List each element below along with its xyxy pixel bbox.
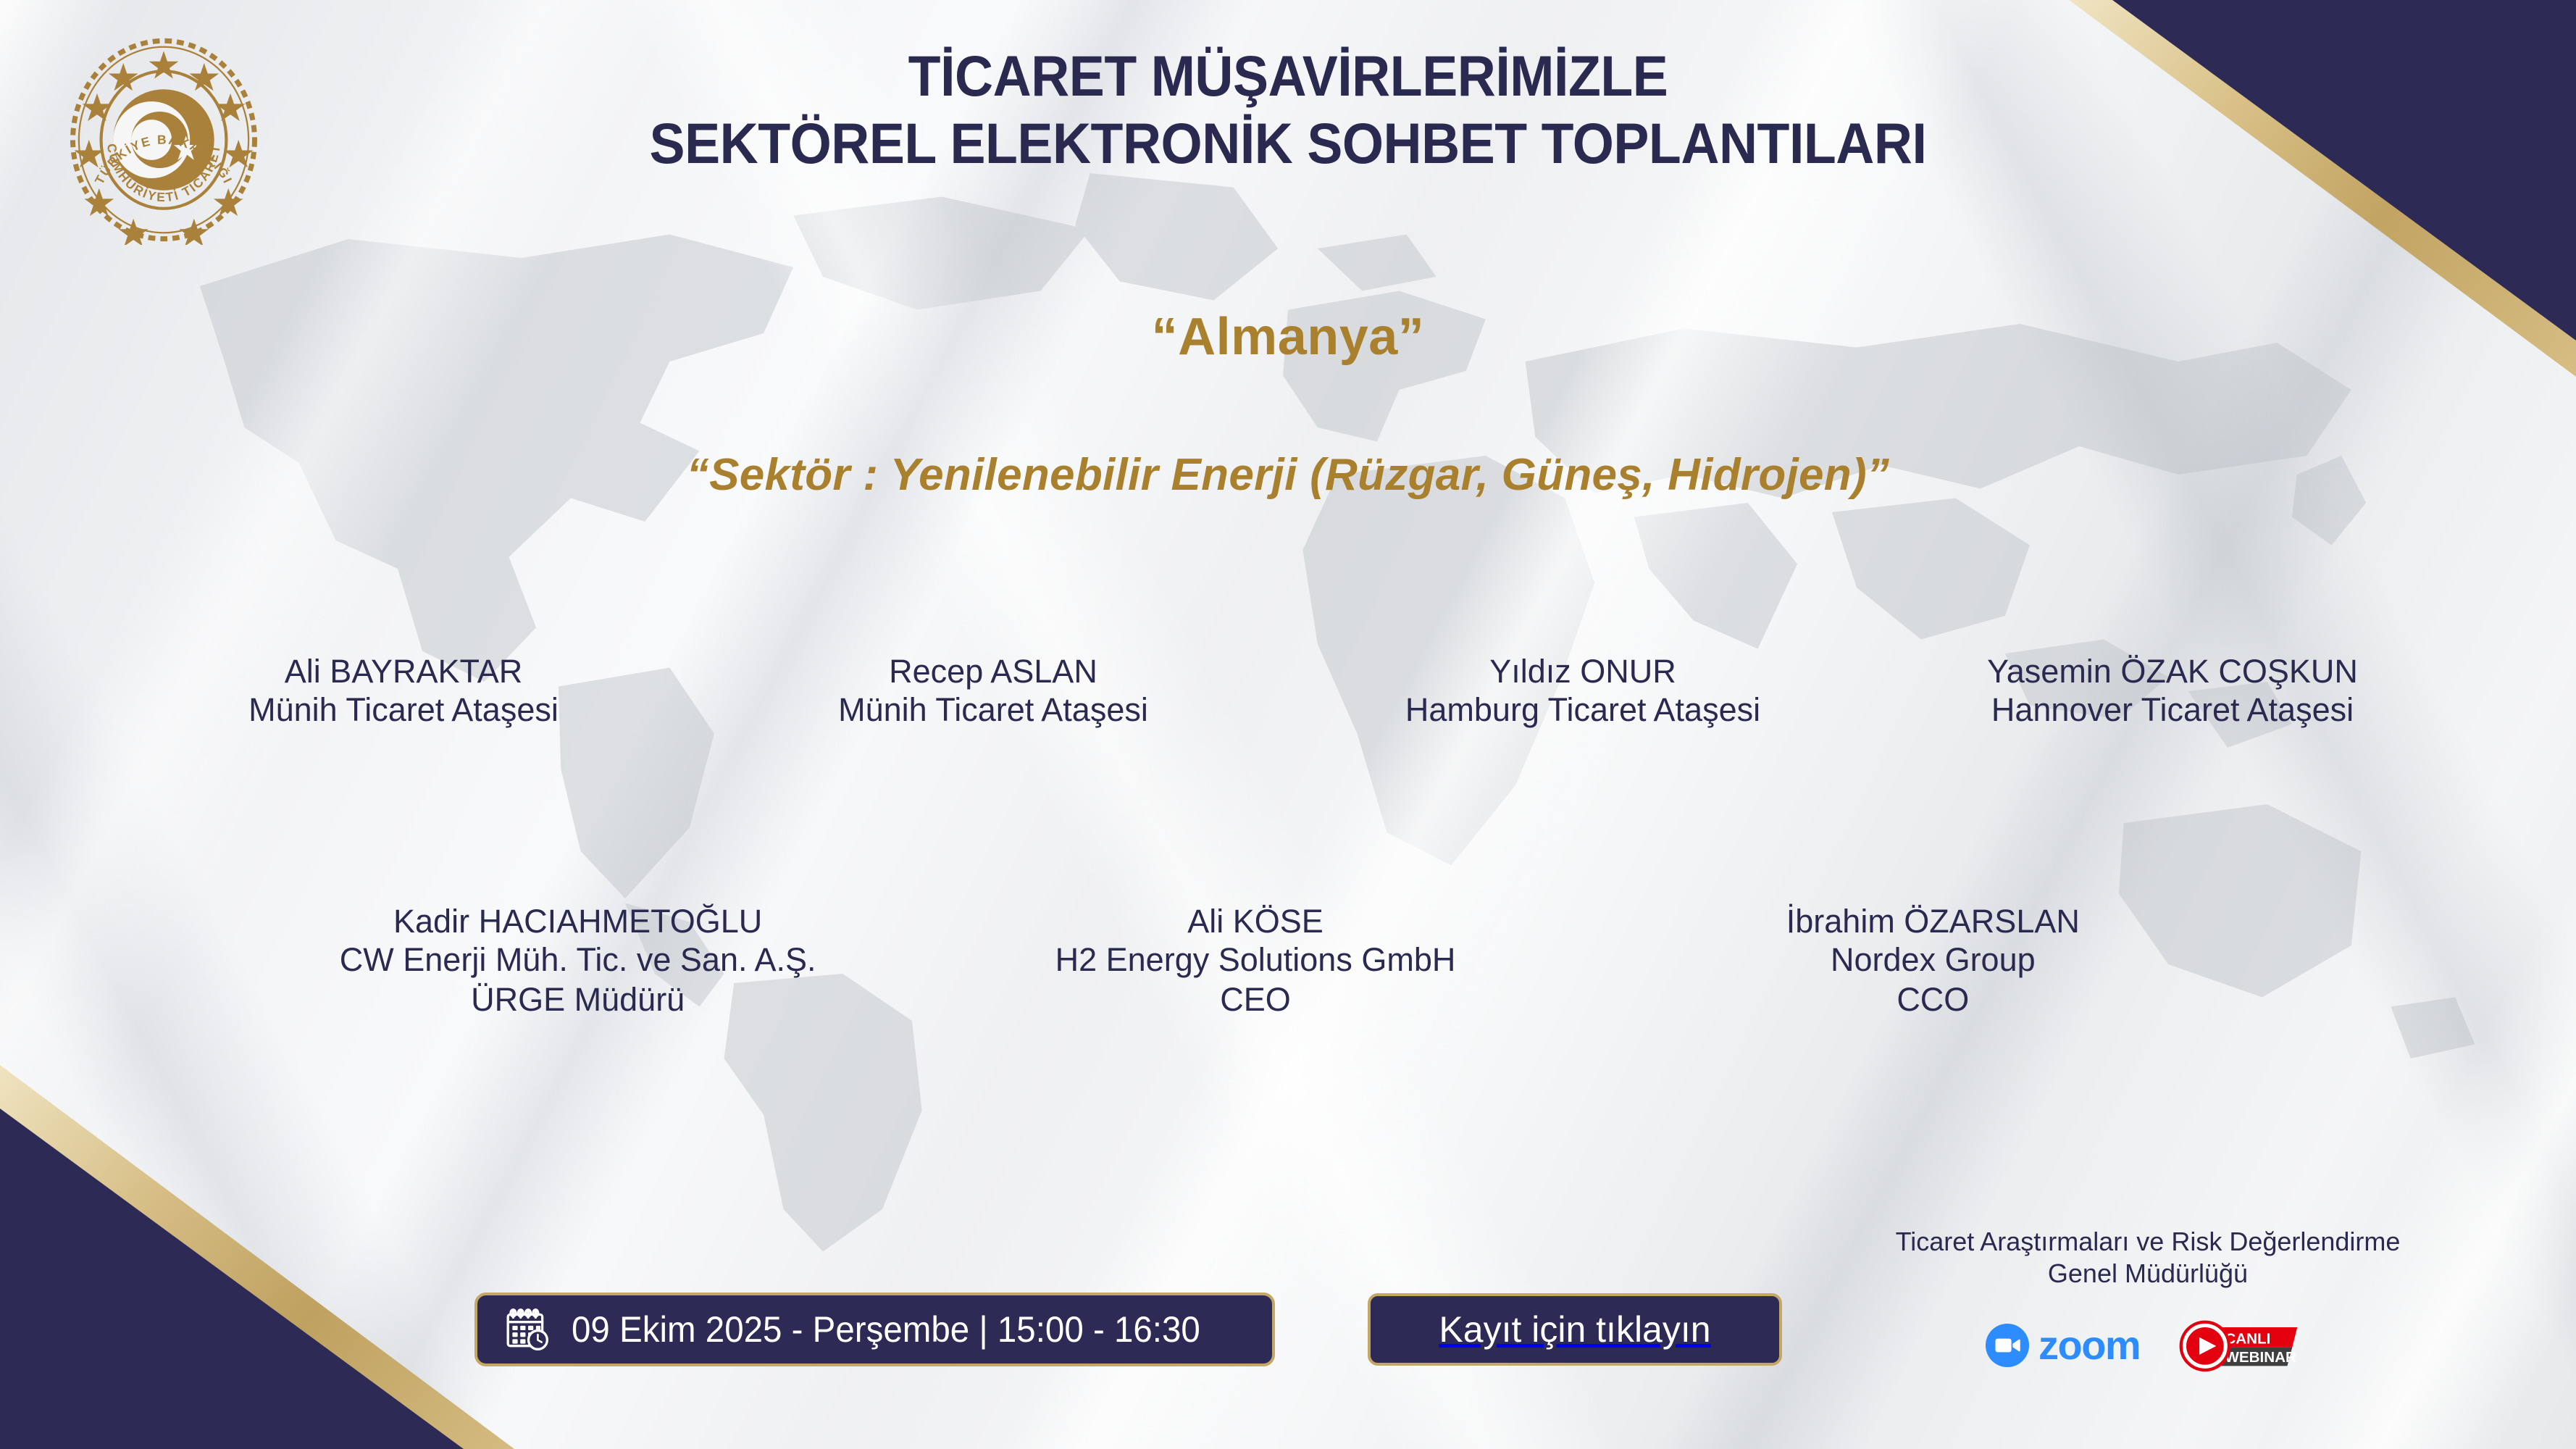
speaker-card: Kadir HACIAHMETOĞLU CW Enerji Müh. Tic. … bbox=[239, 902, 916, 1020]
speaker-card: Ali KÖSE H2 Energy Solutions GmbH CEO bbox=[916, 902, 1594, 1020]
speaker-card: Recep ASLAN Münih Ticaret Ataşesi bbox=[698, 652, 1288, 730]
speaker-company: H2 Energy Solutions GmbH bbox=[925, 940, 1585, 980]
speaker-name: Kadir HACIAHMETOĞLU bbox=[248, 902, 908, 940]
speaker-card: İbrahim ÖZARSLAN Nordex Group CCO bbox=[1594, 902, 2272, 1020]
speaker-name: Recep ASLAN bbox=[707, 652, 1279, 690]
speaker-title: CCO bbox=[1603, 980, 2263, 1020]
speaker-card: Yasemin ÖZAK COŞKUN Hannover Ticaret Ata… bbox=[1878, 652, 2467, 730]
webinar-poster: CUMHURİYETİ TİCARET TÜRKİYE BAKANLIĞI Tİ… bbox=[0, 0, 2576, 1449]
title-line-1: TİCARET MÜŞAVİRLERİMİZLE bbox=[90, 42, 2485, 109]
organiser-line-2: Genel Müdürlüğü bbox=[1840, 1258, 2456, 1290]
organiser-block: Ticaret Araştırmaları ve Risk Değerlendi… bbox=[1840, 1226, 2456, 1290]
event-datetime-pill: 09 Ekim 2025 - Perşembe | 15:00 - 16:30 bbox=[474, 1293, 1275, 1366]
speaker-name: İbrahim ÖZARSLAN bbox=[1603, 902, 2263, 940]
platform-logos: zoom CANLI WEBINAR bbox=[1985, 1319, 2325, 1372]
speaker-title: CEO bbox=[925, 980, 1585, 1020]
speaker-company: CW Enerji Müh. Tic. ve San. A.Ş. bbox=[248, 940, 908, 980]
title-line-2: SEKTÖREL ELEKTRONİK SOHBET TOPLANTILARI bbox=[90, 109, 2485, 177]
svg-text:WEBINAR: WEBINAR bbox=[2225, 1349, 2297, 1366]
zoom-logo: zoom bbox=[1985, 1323, 2140, 1368]
speaker-role: Münih Ticaret Ataşesi bbox=[117, 690, 690, 730]
event-datetime-text: 09 Ekim 2025 - Perşembe | 15:00 - 16:30 bbox=[572, 1308, 1200, 1350]
poster-title: TİCARET MÜŞAVİRLERİMİZLE SEKTÖREL ELEKTR… bbox=[0, 42, 2576, 177]
speaker-name: Yasemin ÖZAK COŞKUN bbox=[1886, 652, 2459, 690]
speaker-name: Ali BAYRAKTAR bbox=[117, 652, 690, 690]
speaker-title: ÜRGE Müdürü bbox=[248, 980, 908, 1020]
speaker-card: Ali BAYRAKTAR Münih Ticaret Ataşesi bbox=[109, 652, 698, 730]
calendar-clock-icon bbox=[503, 1306, 551, 1353]
zoom-camera-icon bbox=[1985, 1323, 2030, 1368]
sector-subtitle: “Sektör : Yenilenebilir Enerji (Rüzgar, … bbox=[0, 449, 2576, 501]
zoom-wordmark: zoom bbox=[2038, 1325, 2140, 1366]
speakers-row-attaches: Ali BAYRAKTAR Münih Ticaret Ataşesi Rece… bbox=[109, 652, 2467, 730]
speaker-role: Hannover Ticaret Ataşesi bbox=[1886, 690, 2459, 730]
speakers-row-companies: Kadir HACIAHMETOĞLU CW Enerji Müh. Tic. … bbox=[239, 902, 2272, 1020]
live-webinar-badge: CANLI WEBINAR bbox=[2178, 1319, 2302, 1372]
speaker-name: Yıldız ONUR bbox=[1297, 652, 1869, 690]
register-button-label: Kayıt için tıklayın bbox=[1439, 1308, 1710, 1350]
organiser-line-1: Ticaret Araştırmaları ve Risk Değerlendi… bbox=[1840, 1226, 2456, 1258]
speaker-company: Nordex Group bbox=[1603, 940, 2263, 980]
speaker-role: Münih Ticaret Ataşesi bbox=[707, 690, 1279, 730]
speaker-name: Ali KÖSE bbox=[925, 902, 1585, 940]
svg-text:CANLI: CANLI bbox=[2225, 1330, 2271, 1347]
country-subtitle: “Almanya” bbox=[0, 307, 2576, 367]
register-button[interactable]: Kayıt için tıklayın bbox=[1368, 1293, 1782, 1366]
speaker-card: Yıldız ONUR Hamburg Ticaret Ataşesi bbox=[1288, 652, 1878, 730]
speaker-role: Hamburg Ticaret Ataşesi bbox=[1297, 690, 1869, 730]
